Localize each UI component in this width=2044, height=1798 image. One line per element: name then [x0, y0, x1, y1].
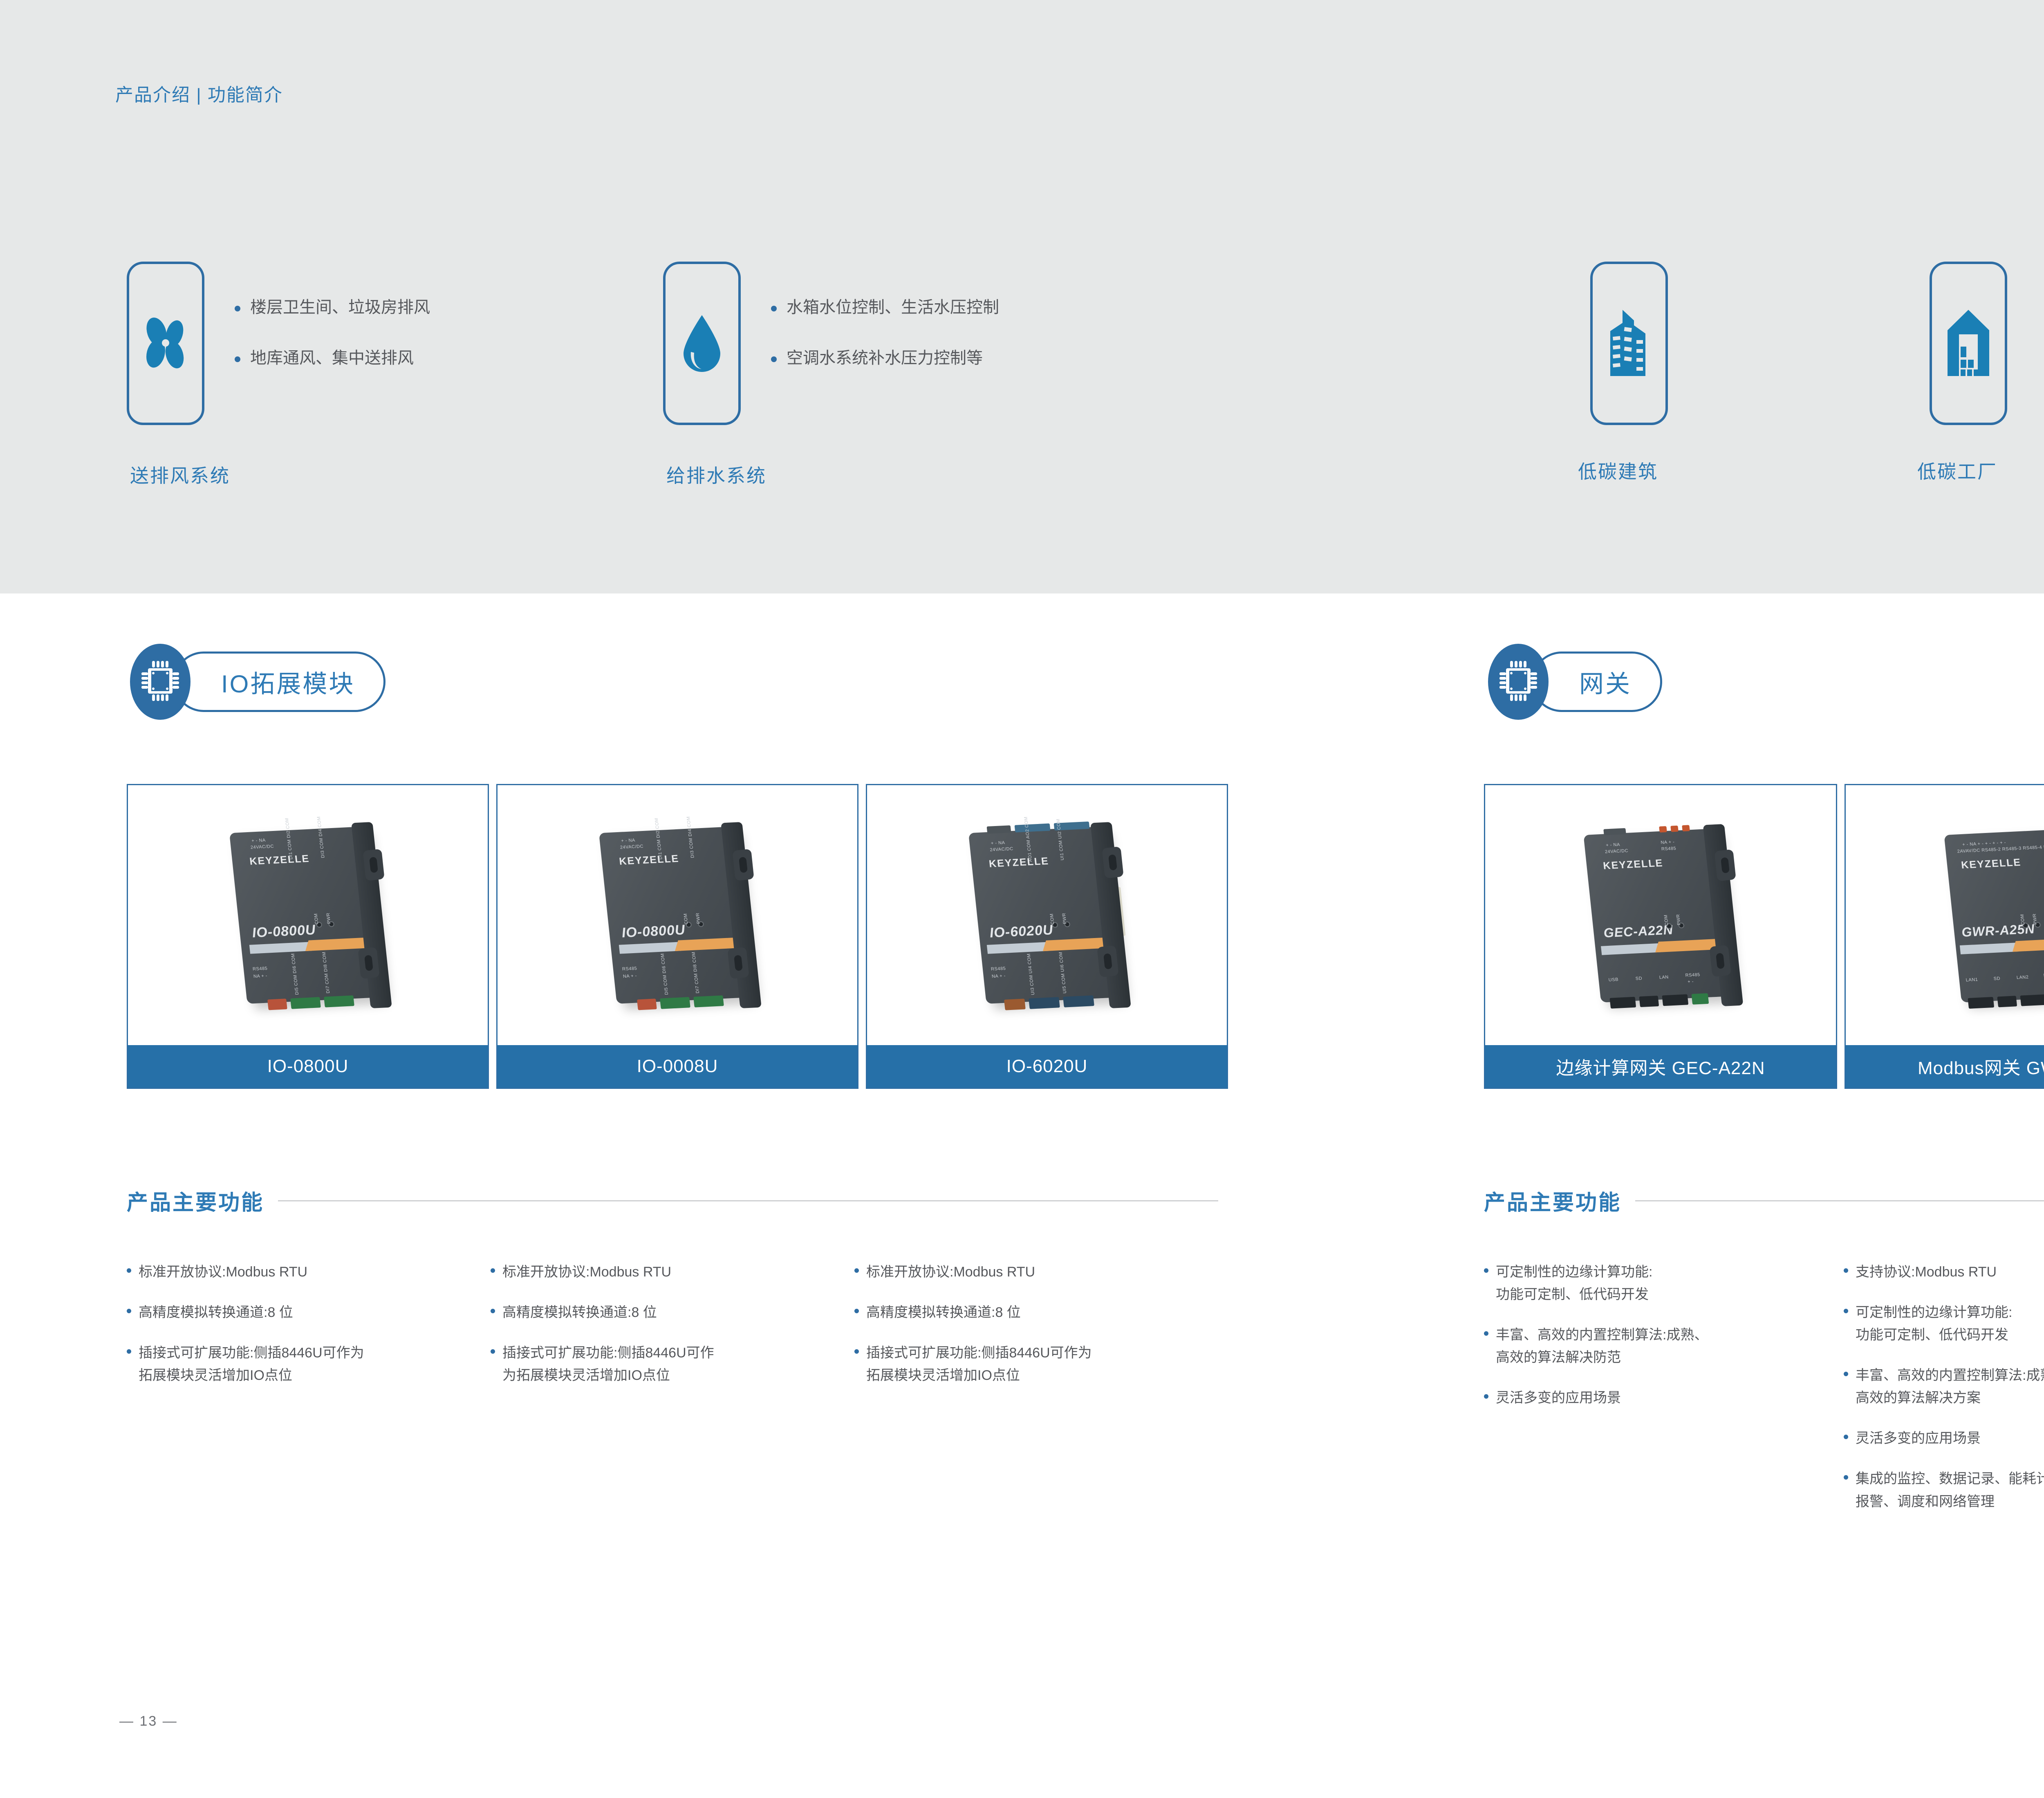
- product-image: + - NA 24VAC/DC NA + - RS485 KEYZELLE GE…: [1485, 785, 1836, 1045]
- feature-text: 高精度模拟转换通道:8 位: [502, 1301, 657, 1324]
- list-item: 可定制性的边缘计算功能: 功能可定制、低代码开发: [1484, 1261, 1844, 1306]
- list-item: 标准开放协议:Modbus RTU: [854, 1261, 1218, 1283]
- features-io-modules: 产品主要功能 标准开放协议:Modbus RTU 高精度模拟转换通道:8 位 插…: [127, 1185, 1218, 1405]
- section-header-gateways: 网关: [1488, 644, 1662, 720]
- feature-column: 标准开放协议:Modbus RTU 高精度模拟转换通道:8 位 插接式可扩展功能…: [854, 1261, 1218, 1405]
- features-title-row: 产品主要功能: [127, 1185, 1218, 1216]
- features-title: 产品主要功能: [1484, 1185, 1621, 1216]
- office-building-icon: [1603, 307, 1655, 380]
- feature-text: 可定制性的边缘计算功能: 功能可定制、低代码开发: [1856, 1301, 2012, 1346]
- features-title: 产品主要功能: [127, 1185, 264, 1216]
- list-item: 支持协议:Modbus RTU: [1844, 1261, 2044, 1283]
- section-title: 网关: [1579, 664, 1632, 700]
- bullet-text: 空调水系统补水压力控制等: [787, 347, 983, 369]
- bullet-dot-icon: [1844, 1372, 1848, 1376]
- fan-icon: [139, 315, 192, 372]
- feature-text: 插接式可扩展功能:侧插8446U可作为 拓展模块灵活增加IO点位: [139, 1342, 364, 1387]
- factory-icon: [1944, 307, 1992, 380]
- product-card[interactable]: + - NA 24VAC/DC DI1 COM DI2 COM DI3 COM …: [127, 784, 489, 1089]
- product-card[interactable]: + - NA 24VAC/DC NA + - RS485 KEYZELLE GE…: [1484, 784, 1837, 1089]
- feature-text: 插接式可扩展功能:侧插8446U可作 为拓展模块灵活增加IO点位: [502, 1342, 714, 1387]
- bullet-dot-icon: [235, 356, 240, 362]
- list-item: 插接式可扩展功能:侧插8446U可作为 拓展模块灵活增加IO点位: [854, 1342, 1218, 1387]
- list-item: 标准开放协议:Modbus RTU: [491, 1261, 854, 1283]
- page-number-left: — 13 —: [119, 1713, 178, 1729]
- product-image: + - NA 24VAC/DC DI1 COM DI2 COM DI3 COM …: [128, 785, 488, 1045]
- bullet-dot-icon: [1484, 1394, 1488, 1399]
- factory-icon-box: [1930, 262, 2007, 425]
- bullet-dot-icon: [854, 1349, 859, 1354]
- product-card[interactable]: + - NA 24VAC/DC DI1 COM DI2 COM DI3 COM …: [496, 784, 858, 1089]
- feature-text: 可定制性的边缘计算功能: 功能可定制、低代码开发: [1496, 1261, 1652, 1306]
- list-item: 可定制性的边缘计算功能: 功能可定制、低代码开发: [1844, 1301, 2044, 1346]
- features-gateways: 产品主要功能 可定制性的边缘计算功能: 功能可定制、低代码开发 丰富、高效的内置…: [1484, 1185, 2044, 1531]
- bullet-dot-icon: [1844, 1475, 1848, 1480]
- device-illustration: + - NA 24VAC/DC DI1 COM DI2 COM DI3 COM …: [222, 813, 394, 1017]
- target-label: 低碳工厂: [1917, 457, 1995, 484]
- list-item: 集成的监控、数据记录、能耗计量、 报警、调度和网络管理: [1844, 1468, 2044, 1513]
- list-item: 插接式可扩展功能:侧插8446U可作为 拓展模块灵活增加IO点位: [127, 1342, 491, 1387]
- list-item: 水箱水位控制、生活水压控制: [771, 297, 999, 318]
- water-drop-icon-box: [663, 262, 741, 425]
- page-header-left: 产品介绍 | 功能简介: [115, 80, 283, 106]
- product-image: + - NA 24VAC/DC DI1 COM DI2 COM DI3 COM …: [498, 785, 857, 1045]
- target-low-carbon-factory: 低碳工厂: [1930, 262, 2007, 484]
- bullet-dot-icon: [1844, 1268, 1848, 1273]
- feature-text: 集成的监控、数据记录、能耗计量、 报警、调度和网络管理: [1856, 1468, 2044, 1513]
- bullet-dot-icon: [771, 356, 777, 362]
- bullet-dot-icon: [491, 1268, 495, 1273]
- bullet-text: 地库通风、集中送排风: [250, 347, 414, 369]
- scenario-label-ventilation: 送排风系统: [130, 461, 230, 488]
- product-card-row-io: + - NA 24VAC/DC DI1 COM DI2 COM DI3 COM …: [127, 784, 1228, 1089]
- title-rule: [278, 1200, 1218, 1201]
- bullet-dot-icon: [854, 1309, 859, 1313]
- feature-text: 标准开放协议:Modbus RTU: [139, 1261, 307, 1283]
- feature-columns: 标准开放协议:Modbus RTU 高精度模拟转换通道:8 位 插接式可扩展功能…: [127, 1261, 1218, 1405]
- bullet-dot-icon: [491, 1309, 495, 1313]
- chip-icon: [141, 660, 180, 704]
- bullet-text: 水箱水位控制、生活水压控制: [787, 297, 999, 318]
- feature-column: 可定制性的边缘计算功能: 功能可定制、低代码开发 丰富、高效的内置控制算法:成熟…: [1484, 1261, 1844, 1531]
- feature-text: 支持协议:Modbus RTU: [1856, 1261, 1997, 1283]
- bullet-dot-icon: [1844, 1309, 1848, 1313]
- target-label: 低碳建筑: [1578, 457, 1656, 484]
- water-drop-icon: [678, 313, 726, 374]
- list-item: 空调水系统补水压力控制等: [771, 347, 999, 369]
- ventilation-bullet-list: 楼层卫生间、垃圾房排风 地库通风、集中送排风: [235, 262, 430, 369]
- device-illustration: + - NA 24VAC/DC DI1 COM DI2 COM DI3 COM …: [592, 813, 763, 1017]
- bullet-dot-icon: [235, 306, 240, 311]
- product-card-row-gateways: + - NA 24VAC/DC NA + - RS485 KEYZELLE GE…: [1484, 784, 2044, 1089]
- bullet-dot-icon: [491, 1349, 495, 1354]
- bullet-dot-icon: [854, 1268, 859, 1273]
- bullet-dot-icon: [127, 1268, 131, 1273]
- bullet-dot-icon: [127, 1309, 131, 1313]
- scenario-water-supply: 水箱水位控制、生活水压控制 空调水系统补水压力控制等: [663, 262, 999, 425]
- list-item: 地库通风、集中送排风: [235, 347, 430, 369]
- feature-text: 标准开放协议:Modbus RTU: [866, 1261, 1035, 1283]
- feature-columns: 可定制性的边缘计算功能: 功能可定制、低代码开发 丰富、高效的内置控制算法:成熟…: [1484, 1261, 2044, 1531]
- features-title-row: 产品主要功能: [1484, 1185, 2044, 1216]
- product-card[interactable]: + - NA 24VAC/DC AO1 COM AO2 COM UI1 COM …: [866, 784, 1228, 1089]
- device-illustration: + - NA 24VAC/DC AO1 COM AO2 COM UI1 COM …: [961, 813, 1133, 1017]
- feature-column: 标准开放协议:Modbus RTU 高精度模拟转换通道:8 位 插接式可扩展功能…: [491, 1261, 854, 1405]
- water-bullet-list: 水箱水位控制、生活水压控制 空调水系统补水压力控制等: [771, 262, 999, 369]
- scenario-ventilation: 楼层卫生间、垃圾房排风 地库通风、集中送排风: [127, 262, 430, 425]
- feature-text: 插接式可扩展功能:侧插8446U可作为 拓展模块灵活增加IO点位: [866, 1342, 1092, 1387]
- fan-icon-box: [127, 262, 204, 425]
- list-item: 插接式可扩展功能:侧插8446U可作 为拓展模块灵活增加IO点位: [491, 1342, 854, 1387]
- title-rule: [1635, 1200, 2044, 1201]
- list-item: 高精度模拟转换通道:8 位: [491, 1301, 854, 1324]
- list-item: 灵活多变的应用场景: [1844, 1427, 2044, 1450]
- device-illustration: + - NA + - + - + - + - 2AVAV/DC RS485-2 …: [1937, 815, 2044, 1015]
- list-item: 标准开放协议:Modbus RTU: [127, 1261, 491, 1283]
- list-item: 楼层卫生间、垃圾房排风: [235, 297, 430, 318]
- product-card[interactable]: + - NA + - + - + - + - 2AVAV/DC RS485-2 …: [1845, 784, 2044, 1089]
- device-illustration: + - NA 24VAC/DC NA + - RS485 KEYZELLE GE…: [1577, 815, 1744, 1015]
- bullet-dot-icon: [771, 306, 777, 311]
- list-item: 高精度模拟转换通道:8 位: [127, 1301, 491, 1324]
- section-header-io-modules: IO拓展模块: [130, 644, 385, 720]
- feature-text: 标准开放协议:Modbus RTU: [502, 1261, 671, 1283]
- feature-column: 标准开放协议:Modbus RTU 高精度模拟转换通道:8 位 插接式可扩展功能…: [127, 1261, 491, 1405]
- list-item: 高精度模拟转换通道:8 位: [854, 1301, 1218, 1324]
- product-caption: 边缘计算网关 GEC-A22N: [1485, 1045, 1836, 1088]
- chip-icon-badge: [130, 644, 191, 720]
- feature-text: 丰富、高效的内置控制算法:成熟、 高效的算法解决方案: [1856, 1364, 2044, 1409]
- product-image: + - NA + - + - + - + - 2AVAV/DC RS485-2 …: [1846, 785, 2044, 1045]
- list-item: 灵活多变的应用场景: [1484, 1387, 1844, 1409]
- product-caption: IO-0800U: [128, 1045, 488, 1088]
- bullet-dot-icon: [1484, 1268, 1488, 1273]
- feature-text: 高精度模拟转换通道:8 位: [866, 1301, 1021, 1324]
- product-caption: Modbus网关 GWR-A25N: [1846, 1045, 2044, 1088]
- product-caption: IO-6020U: [867, 1045, 1227, 1088]
- section-title: IO拓展模块: [221, 664, 355, 700]
- bullet-dot-icon: [127, 1349, 131, 1354]
- bullet-dot-icon: [1844, 1435, 1848, 1439]
- list-item: 丰富、高效的内置控制算法:成熟、 高效的算法解决防范: [1484, 1324, 1844, 1369]
- list-item: 丰富、高效的内置控制算法:成熟、 高效的算法解决方案: [1844, 1364, 2044, 1409]
- section-pill-io-modules: IO拓展模块: [173, 652, 385, 712]
- product-caption: IO-0008U: [498, 1045, 857, 1088]
- bullet-text: 楼层卫生间、垃圾房排风: [250, 297, 430, 318]
- chip-icon-badge: [1488, 644, 1549, 720]
- feature-text: 高精度模拟转换通道:8 位: [139, 1301, 293, 1324]
- scenario-label-water-supply: 给排水系统: [666, 461, 766, 488]
- section-pill-gateways: 网关: [1531, 652, 1662, 712]
- feature-text: 丰富、高效的内置控制算法:成熟、 高效的算法解决防范: [1496, 1324, 1708, 1369]
- office-building-icon-box: [1590, 262, 1668, 425]
- feature-text: 灵活多变的应用场景: [1496, 1387, 1621, 1409]
- chip-icon: [1499, 660, 1538, 704]
- product-image: + - NA 24VAC/DC AO1 COM AO2 COM UI1 COM …: [867, 785, 1227, 1045]
- bullet-dot-icon: [1484, 1331, 1488, 1336]
- target-low-carbon-building: 低碳建筑: [1590, 262, 1668, 484]
- feature-column: 支持协议:Modbus RTU 可定制性的边缘计算功能: 功能可定制、低代码开发…: [1844, 1261, 2044, 1531]
- feature-text: 灵活多变的应用场景: [1856, 1427, 1981, 1450]
